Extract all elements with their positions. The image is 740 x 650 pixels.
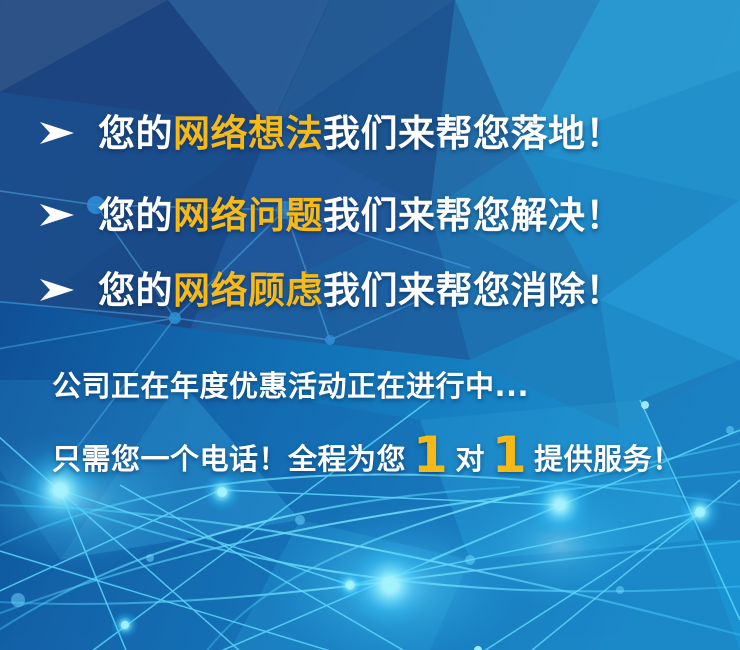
service-text-part1: 只需您一个电话！全程为您 — [52, 436, 406, 478]
bullet-row-3: 您的网络顾虑我们来帮您消除！ — [38, 262, 623, 318]
headline-1-highlight: 网络想法 — [173, 112, 323, 155]
service-number-second: 1 — [485, 430, 534, 480]
bullet-row-1: 您的网络想法我们来帮您落地！ — [38, 105, 623, 161]
headline-2-post: 我们来帮您解决！ — [323, 194, 623, 237]
headline-3-pre: 您的 — [98, 269, 173, 312]
service-text: 只需您一个电话！全程为您 1 对 1 提供服务！ — [52, 427, 682, 478]
bullet-row-2: 您的网络问题我们来帮您解决！ — [38, 187, 623, 243]
headline-3-post: 我们来帮您消除！ — [323, 269, 623, 312]
headline-2-highlight: 网络问题 — [173, 194, 323, 237]
headline-3-highlight: 网络顾虑 — [173, 269, 323, 312]
headline-3: 您的网络顾虑我们来帮您消除！ — [98, 272, 623, 309]
headline-1: 您的网络想法我们来帮您落地！ — [98, 115, 623, 152]
promo-text: 公司正在年度优惠活动正在进行中... — [52, 363, 529, 405]
headline-2: 您的网络问题我们来帮您解决！ — [98, 197, 623, 234]
service-text-part2: 提供服务！ — [534, 436, 682, 478]
arrow-right-icon — [38, 202, 76, 228]
arrow-right-icon — [38, 120, 76, 146]
headline-1-pre: 您的 — [98, 112, 173, 155]
arrow-right-icon — [38, 277, 76, 303]
service-text-middle: 对 — [455, 436, 485, 478]
promo-banner: 您的网络想法我们来帮您落地！ 您的网络问题我们来帮您解决！ 您的网络顾虑我们来帮… — [0, 0, 740, 650]
headline-2-pre: 您的 — [98, 194, 173, 237]
service-number-first: 1 — [406, 430, 455, 480]
headline-1-post: 我们来帮您落地！ — [323, 112, 623, 155]
